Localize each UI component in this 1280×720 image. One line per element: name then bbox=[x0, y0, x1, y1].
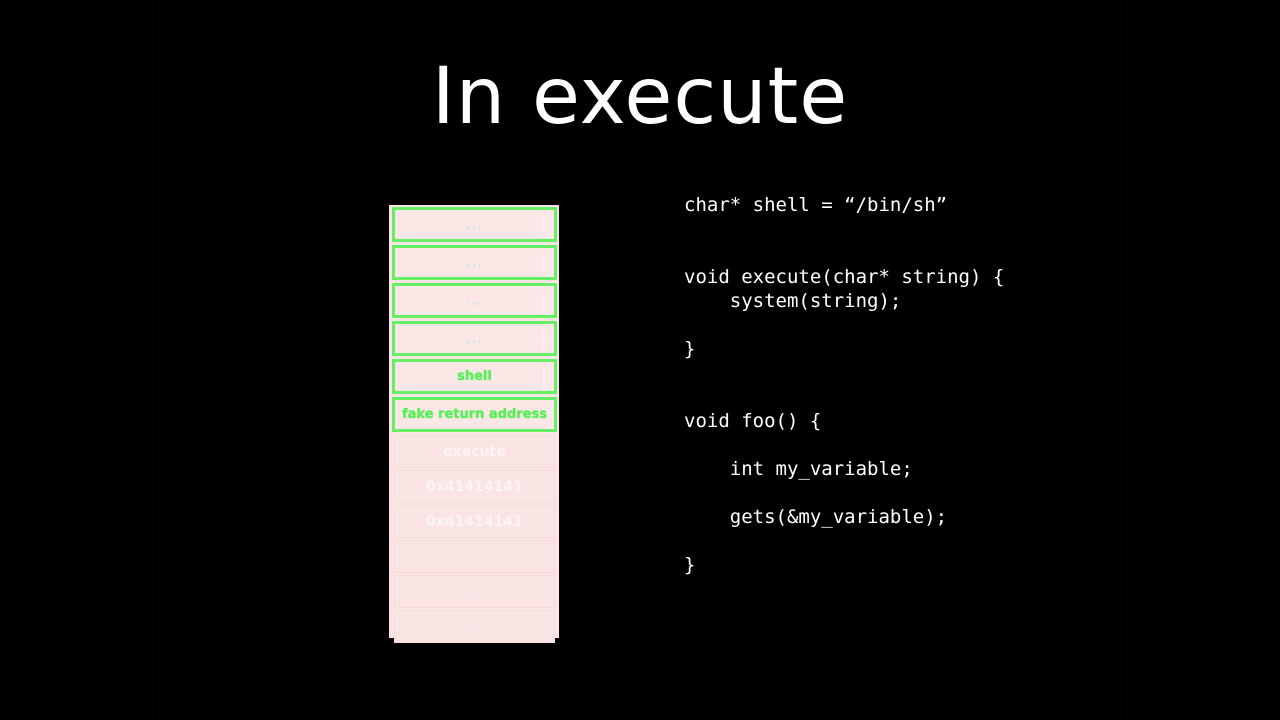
stack-cell-pointer-mark bbox=[543, 253, 545, 275]
code-blank-line bbox=[684, 364, 1114, 388]
stack-cell: ... bbox=[394, 610, 555, 643]
stack-cell: ... bbox=[394, 540, 555, 573]
stack-layout-diagram: ............shellfake return addressexec… bbox=[389, 205, 559, 638]
stack-cell-label: ... bbox=[466, 256, 483, 270]
code-blank-line bbox=[684, 436, 1114, 460]
code-line: void execute(char* string) { bbox=[684, 268, 1114, 292]
code-line: void foo() { bbox=[684, 412, 1114, 436]
stack-cell: execute bbox=[394, 435, 555, 468]
stack-cell: fake return address bbox=[392, 397, 557, 432]
stack-cell: ... bbox=[392, 207, 557, 242]
code-line: } bbox=[684, 556, 1114, 580]
page-title: In execute bbox=[0, 58, 1280, 136]
slide-canvas: In execute ............shellfake return … bbox=[0, 0, 1280, 720]
code-line: } bbox=[684, 340, 1114, 364]
stack-cell-label: shell bbox=[457, 369, 492, 384]
code-blank-line bbox=[684, 484, 1114, 508]
code-line: int my_variable; bbox=[684, 460, 1114, 484]
stack-cell-label: ... bbox=[466, 332, 483, 346]
stack-cell-label: ... bbox=[466, 294, 483, 308]
code-blank-line bbox=[684, 244, 1114, 268]
stack-cell: 0x41414141 bbox=[394, 505, 555, 538]
stack-cell-pointer-mark bbox=[543, 215, 545, 237]
code-blank-line bbox=[684, 388, 1114, 412]
stack-cell-label: execute bbox=[443, 444, 505, 460]
stack-cell-pointer-mark bbox=[543, 329, 545, 351]
stack-cell-pointer-mark bbox=[543, 367, 545, 389]
stack-cell: shell bbox=[392, 359, 557, 394]
code-line: gets(&my_variable); bbox=[684, 508, 1114, 532]
stack-cell-pointer-mark bbox=[543, 291, 545, 313]
stack-cell: ... bbox=[392, 283, 557, 318]
stack-cell: ... bbox=[392, 321, 557, 356]
code-blank-line bbox=[684, 316, 1114, 340]
stack-cell-label: 0x41414141 bbox=[426, 514, 523, 530]
code-line: system(string); bbox=[684, 292, 1114, 316]
stack-cell-label: ... bbox=[466, 585, 483, 599]
code-blank-line bbox=[684, 532, 1114, 556]
stack-cell: ... bbox=[392, 245, 557, 280]
code-line: char* shell = “/bin/sh” bbox=[684, 196, 1114, 220]
stack-cell-label: ... bbox=[466, 620, 483, 634]
stack-cell: 0x41414141 bbox=[394, 470, 555, 503]
code-block: char* shell = “/bin/sh”void execute(char… bbox=[684, 196, 1114, 580]
stack-cell-label: 0x41414141 bbox=[426, 479, 523, 495]
stack-cell: ... bbox=[394, 575, 555, 608]
stack-cell-label: ... bbox=[466, 218, 483, 232]
stack-cell-label: fake return address bbox=[402, 407, 547, 422]
code-blank-line bbox=[684, 220, 1114, 244]
stack-cell-label: ... bbox=[466, 550, 483, 564]
